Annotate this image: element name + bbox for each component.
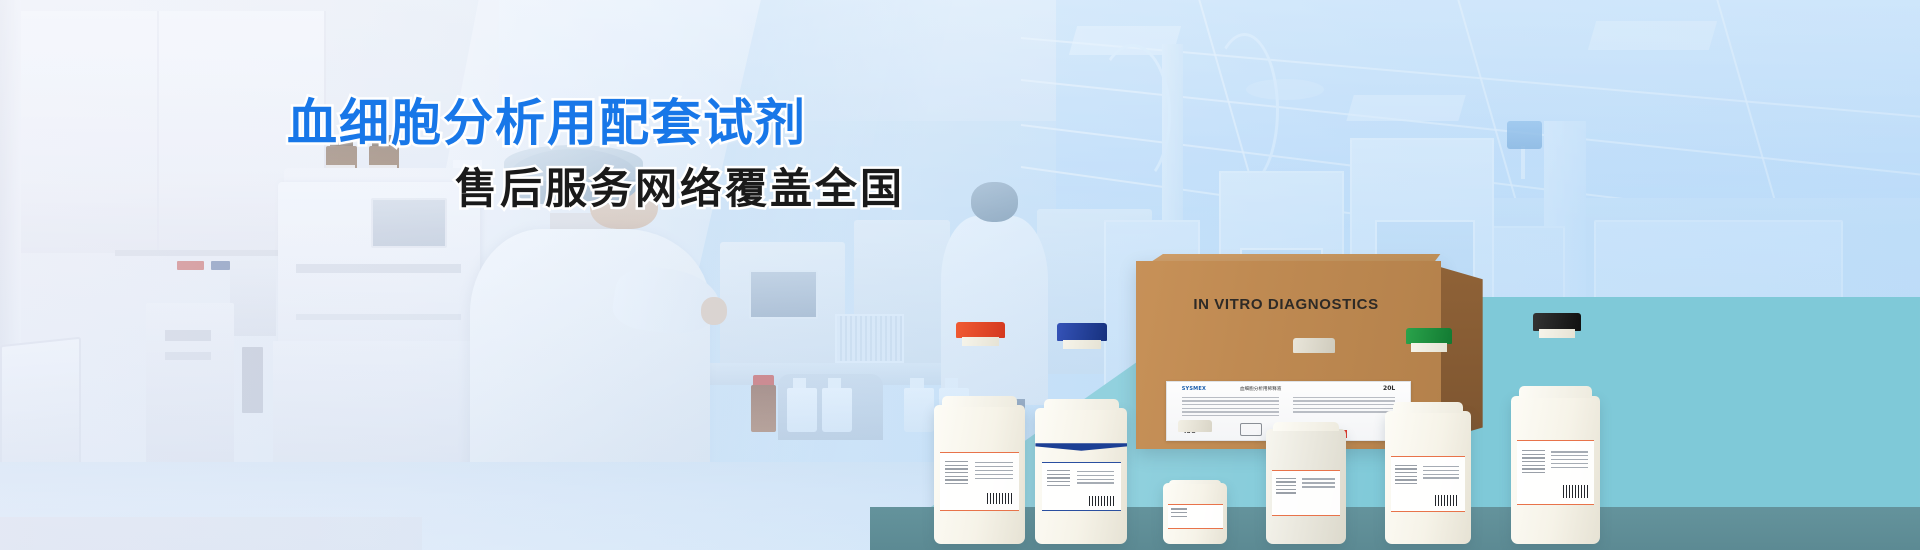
label-spec-lines — [1182, 397, 1279, 418]
reagent-bottle-black-cap — [1511, 396, 1601, 544]
ceiling-light-panel — [1588, 21, 1717, 50]
bottle-cap-red — [956, 322, 1006, 339]
bottle-label — [1391, 456, 1465, 512]
amber-jug — [751, 385, 776, 432]
bottle-shoulder — [1393, 402, 1463, 413]
bottle-neck — [1411, 343, 1447, 352]
bottle-cap-small — [1178, 420, 1212, 432]
label-text-lines — [1302, 478, 1335, 490]
bottle-shoulder — [1044, 399, 1119, 410]
tubing — [1210, 33, 1279, 187]
bottle-blue-stripe — [1035, 443, 1127, 450]
label-text-lines — [1171, 508, 1187, 519]
ceiling-light-panel — [1346, 95, 1466, 121]
technician-hair-cap — [504, 145, 643, 181]
label-instruction-lines — [1293, 397, 1395, 415]
bottle-label — [1272, 470, 1341, 516]
carton-text: IN VITRO DIAGNOSTICS — [1151, 296, 1421, 313]
bottle-label — [1168, 504, 1223, 529]
iv-stand — [1521, 146, 1526, 179]
analyzer-panel-strip — [296, 264, 461, 273]
reagent-bottle-clear — [1266, 429, 1346, 544]
device-indicator — [211, 261, 230, 270]
bottle-cap-green — [1406, 328, 1452, 345]
bottle-neck — [1539, 329, 1575, 338]
bottle-shoulder — [1519, 386, 1593, 398]
barcode — [1089, 496, 1114, 505]
tubing — [1094, 44, 1171, 187]
product-group: IN VITRO DIAGNOSTICS SYSMEX 血细胞分析用稀释液 20… — [922, 248, 1920, 550]
bottle-cap-blue — [1057, 323, 1107, 341]
label-text-lines — [1276, 478, 1297, 496]
technician-hand — [701, 297, 727, 325]
reagent-bottle-small — [1163, 483, 1227, 544]
floor-highlight — [0, 517, 422, 550]
lab-coat — [470, 229, 710, 478]
tower-drive-bay — [165, 330, 211, 341]
tower-side-panel — [242, 347, 263, 413]
reagent-bottle-red-cap — [934, 405, 1026, 544]
bottle-shoulder — [942, 396, 1017, 407]
label-text-lines — [1077, 471, 1115, 487]
tower-drive-bay — [165, 352, 211, 360]
label-text-lines — [975, 462, 1013, 481]
label-text-lines — [1047, 470, 1071, 488]
bottle-cap-black — [1533, 313, 1581, 331]
bottle-neck — [962, 337, 1000, 346]
bottle-label — [940, 452, 1019, 510]
bottle-shoulder — [1273, 422, 1338, 431]
label-text-lines — [1423, 466, 1458, 482]
technician-head — [971, 182, 1018, 222]
barcode — [1435, 495, 1459, 506]
bottle-cap-clear — [1293, 338, 1335, 353]
bottle-label — [1042, 462, 1121, 511]
label-volume: 20L — [1383, 385, 1395, 392]
analyzer-display — [371, 198, 448, 248]
bottle-neck — [1063, 340, 1101, 349]
device-indicator — [177, 261, 204, 270]
barcode — [987, 493, 1012, 504]
label-text-lines — [1522, 450, 1545, 476]
label-text-lines — [945, 461, 969, 487]
label-product-name: 血细胞分析用稀释液 — [1240, 386, 1281, 392]
ce-mark-icon — [1240, 423, 1262, 436]
desktop-device — [230, 259, 276, 336]
hero-banner: IN VITRO DIAGNOSTICS SYSMEX 血细胞分析用稀释液 20… — [0, 0, 1920, 550]
label-brand: SYSMEX — [1182, 386, 1206, 392]
bottle-label — [1517, 440, 1594, 505]
desk-monitor — [0, 337, 81, 477]
label-text-lines — [1395, 465, 1417, 487]
reagent-bottle-green-cap — [1385, 411, 1471, 544]
label-text-lines — [1551, 451, 1588, 470]
analyzer-panel-strip — [296, 314, 461, 320]
computer-tower — [146, 303, 234, 468]
reagent-bag — [1507, 121, 1542, 149]
barcode — [1563, 485, 1588, 498]
bottle-shoulder — [1169, 480, 1221, 485]
reagent-bottle-blue-cap — [1035, 408, 1127, 544]
